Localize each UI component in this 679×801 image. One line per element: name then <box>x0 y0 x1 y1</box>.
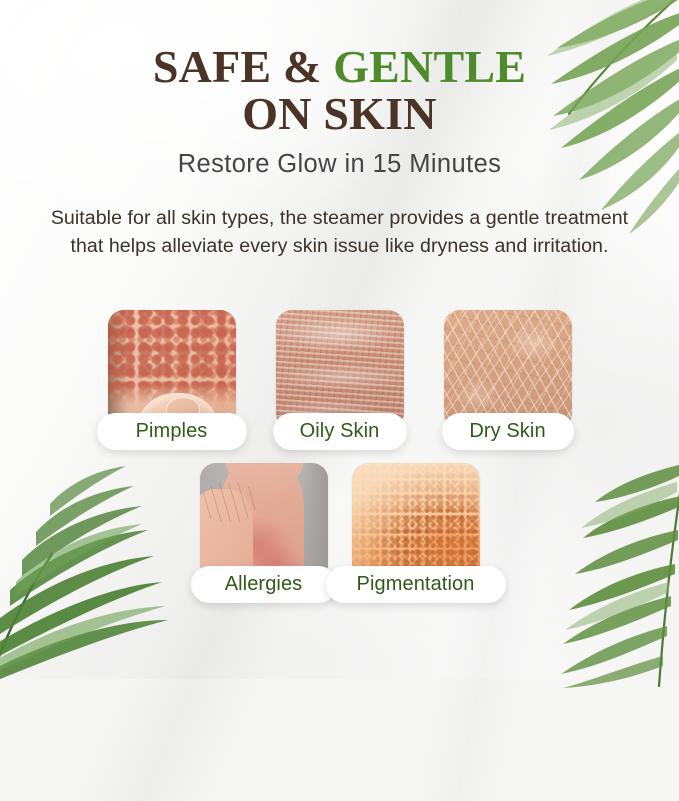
card-pimples[interactable]: Pimples <box>108 310 236 450</box>
card-label-pimples: Pimples <box>97 413 247 450</box>
headline-line-1: SAFE & GENTLE <box>0 44 679 89</box>
card-row-1: Pimples Oily Skin Dry Skin <box>0 310 679 450</box>
card-row-2: Allergies Pigmentation <box>0 463 679 603</box>
headline-gentle: GENTLE <box>333 41 526 92</box>
card-image-allergies <box>200 463 328 582</box>
card-label-pigmentation: Pigmentation <box>326 566 506 603</box>
card-allergies[interactable]: Allergies <box>200 463 328 603</box>
body-paragraph: Suitable for all skin types, the steamer… <box>50 205 629 260</box>
skin-concern-cards: Pimples Oily Skin Dry Skin <box>0 310 679 603</box>
card-image-pimples <box>108 310 236 429</box>
card-label-oily-skin: Oily Skin <box>273 413 407 450</box>
body-copy: Suitable for all skin types, the steamer… <box>50 205 629 260</box>
headline-safe-and: SAFE & <box>153 41 322 92</box>
headline-line-2: ON SKIN <box>0 91 679 136</box>
card-oily-skin[interactable]: Oily Skin <box>276 310 404 450</box>
card-label-allergies: Allergies <box>191 566 337 603</box>
card-label-dry-skin: Dry Skin <box>442 413 574 450</box>
subtitle: Restore Glow in 15 Minutes <box>0 150 679 179</box>
header: SAFE & GENTLE ON SKIN Restore Glow in 15… <box>0 44 679 179</box>
card-image-dry-skin <box>444 310 572 429</box>
card-dry-skin[interactable]: Dry Skin <box>444 310 572 450</box>
card-image-pigmentation <box>352 463 480 582</box>
card-image-oily-skin <box>276 310 404 429</box>
card-pigmentation[interactable]: Pigmentation <box>352 463 480 603</box>
